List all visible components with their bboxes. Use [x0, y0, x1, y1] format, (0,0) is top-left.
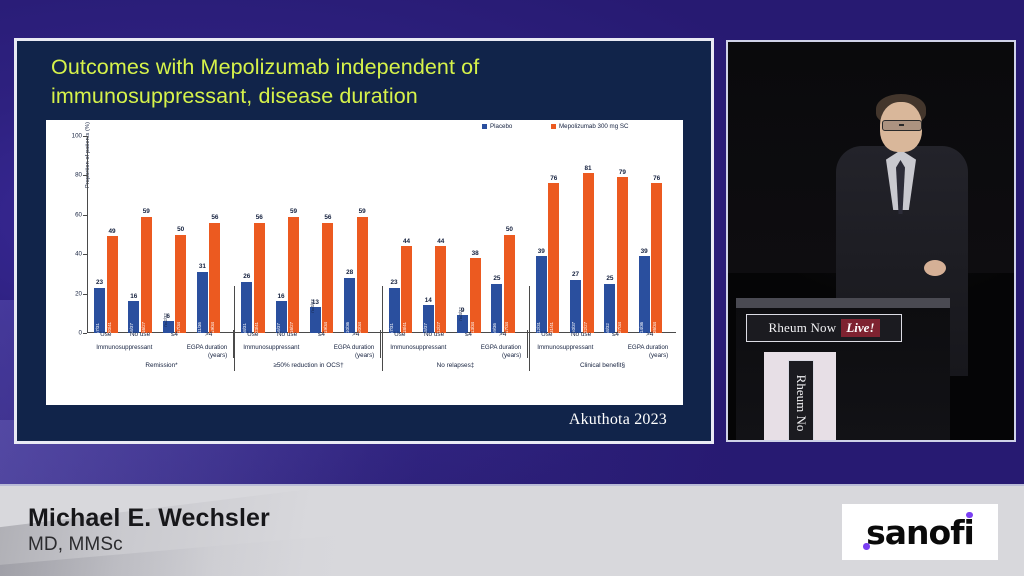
x-label-separator — [527, 330, 528, 358]
y-tick — [83, 175, 87, 176]
x-category-header-line-1: EGPA duration — [453, 344, 522, 352]
presentation-slide[interactable]: Outcomes with Mepolizumab independent of… — [14, 38, 714, 444]
bar-sample-size-label: n=3/32 — [458, 307, 463, 321]
x-tick-label: >4 — [352, 331, 359, 338]
x-tick-label: ≤4 — [171, 331, 178, 338]
x-tick-label: >4 — [646, 331, 653, 338]
x-tick-label: ≤4 — [318, 331, 325, 338]
podium-sign-accent-text: Live! — [841, 319, 879, 337]
bar-fill — [357, 217, 368, 333]
bar-value-label: 16 — [130, 293, 137, 300]
sanofi-logo-text: sanofi — [866, 513, 974, 552]
x-category-header-line-1: EGPA duration — [306, 344, 375, 352]
chart-bar: 56n=19/34 — [209, 223, 220, 333]
chart-bar: 44n=12/27 — [435, 246, 446, 333]
slide-citation: Akuthota 2023 — [569, 411, 667, 429]
bar-value-label: 25 — [493, 275, 500, 282]
bar-value-label: 50 — [177, 226, 184, 233]
bar-fill — [254, 223, 265, 333]
bar-value-label: 76 — [653, 175, 660, 182]
bar-value-label: 79 — [619, 169, 626, 176]
bar-fill — [504, 235, 515, 334]
x-label-separator — [380, 330, 381, 358]
speaker-credentials: MD, MMSc — [28, 534, 123, 556]
bar-value-label: 39 — [538, 248, 545, 255]
chart-bar: 50n=17/34 — [175, 235, 186, 334]
x-category-header-line-2: (years) — [453, 352, 522, 360]
x-tick-label: No use — [130, 331, 150, 338]
x-tick-label: Use — [247, 331, 258, 338]
panel-title: No relapses‡ — [437, 362, 475, 369]
x-tick-label: Use — [394, 331, 405, 338]
chart-bar: 16n=6/37 — [128, 301, 139, 333]
chart-bar: 13n=4/32 — [310, 307, 321, 333]
bar-value-label: 25 — [606, 275, 613, 282]
speaker-name: Michael E. Wechsler — [28, 504, 270, 533]
chart-bar: 59n=16/27 — [288, 217, 299, 333]
x-tick-label: ≤4 — [465, 331, 472, 338]
bar-fill — [288, 217, 299, 333]
chart-bar: 56n=19/34 — [322, 223, 333, 333]
bar-value-label: 56 — [324, 214, 331, 221]
bar-value-label: 28 — [346, 269, 353, 276]
bar-value-label: 16 — [278, 293, 285, 300]
y-tick — [83, 136, 87, 137]
bar-value-label: 23 — [96, 279, 103, 286]
bar-value-label: 31 — [199, 263, 206, 270]
legend-swatch-icon — [482, 124, 487, 129]
y-tick-label: 40 — [75, 251, 82, 258]
y-tick — [83, 333, 87, 334]
panel-title: Clinical benefit§ — [580, 362, 625, 369]
bar-value-label: 59 — [290, 208, 297, 215]
webinar-screen: Outcomes with Mepolizumab independent of… — [0, 0, 1024, 576]
bar-value-label: 76 — [550, 175, 557, 182]
chart-plot-area: Proportion of patients (%) 020406080100 … — [87, 136, 676, 333]
sanofi-logo: sanofi — [842, 504, 998, 560]
x-category-header-line-2: (years) — [306, 352, 375, 360]
x-category-header-duration: EGPA duration(years) — [453, 344, 522, 360]
bar-value-label: 39 — [641, 248, 648, 255]
glasses-icon — [882, 120, 922, 131]
x-axis-labels: UseNo use≤4>4ImmunosuppressantEGPA durat… — [88, 331, 676, 375]
podium-sign-primary-text: Rheum Now — [768, 320, 836, 336]
x-tick-label: No use — [571, 331, 591, 338]
panel-title: Remission* — [145, 362, 177, 369]
bar-value-label: 49 — [108, 228, 115, 235]
bar-value-label: 14 — [425, 297, 432, 304]
x-tick-label: No use — [424, 331, 444, 338]
legend-item: Mepolizumab 300 mg SC — [551, 123, 628, 130]
legend-swatch-icon — [551, 124, 556, 129]
chart-bar: 44n=18/41 — [401, 246, 412, 333]
x-category-header-line-2: (years) — [159, 352, 228, 360]
sanofi-wordmark: sanofi — [866, 513, 974, 552]
y-tick-label: 100 — [72, 133, 82, 140]
x-category-header: Immunosuppressant — [384, 344, 453, 352]
legend-item: Placebo — [482, 123, 512, 130]
y-tick-label: 0 — [79, 330, 82, 337]
chart-bar: 49n=20/41 — [107, 236, 118, 333]
x-tick-label: >4 — [205, 331, 212, 338]
x-tick-label: No use — [277, 331, 297, 338]
bar-value-label: 59 — [359, 208, 366, 215]
chart-bar: 76n=26/34 — [651, 183, 662, 333]
chart-bar: 27n=10/37 — [570, 280, 581, 333]
y-tick-label: 80 — [75, 172, 82, 179]
podium-sign: Rheum Now Live! — [746, 314, 902, 342]
chart-bar: 14n=5/37 — [423, 305, 434, 333]
chart-bar: 23n=7/31 — [389, 288, 400, 333]
x-category-header: Immunosuppressant — [90, 344, 159, 352]
chart-container: PlaceboMepolizumab 300 mg SC Proportion … — [46, 120, 683, 405]
chart-bar: 81n=22/27 — [583, 173, 594, 333]
chart-bar: 76n=31/41 — [548, 183, 559, 333]
x-category-header-line-1: EGPA duration — [159, 344, 228, 352]
bar-value-label: 38 — [472, 250, 479, 257]
chart-bar: 39n=14/36 — [639, 256, 650, 333]
bar-fill — [141, 217, 152, 333]
chart-bar: 28n=10/36 — [344, 278, 355, 333]
chart-bar: 56n=23/41 — [254, 223, 265, 333]
slide-title-line-2: immunosuppressant, disease duration — [51, 82, 691, 111]
slide-title: Outcomes with Mepolizumab independent of… — [51, 53, 691, 111]
x-tick-label: Use — [541, 331, 552, 338]
slide-title-line-1: Outcomes with Mepolizumab independent of — [51, 53, 691, 82]
chart-bar: 26n=8/31 — [241, 282, 252, 333]
bar-fill — [322, 223, 333, 333]
y-tick — [83, 294, 87, 295]
vertical-banner-text: Rheum No — [793, 375, 809, 432]
panel-title: ≥50% reduction in OCS† — [273, 362, 343, 369]
chart-bar: 50n=17/34 — [504, 235, 515, 334]
chart-legend: PlaceboMepolizumab 300 mg SC — [46, 123, 683, 137]
x-category-header-line-1: EGPA duration — [600, 344, 669, 352]
bar-fill — [435, 246, 446, 333]
x-category-header-duration: EGPA duration(years) — [306, 344, 375, 360]
x-category-header: Immunosuppressant — [237, 344, 306, 352]
speaker-video-panel[interactable]: Rheum Now Live! Rheum No — [726, 40, 1016, 442]
podium-top-edge — [736, 298, 950, 308]
bar-value-label: 81 — [585, 165, 592, 172]
chart-bar: 23n=7/31 — [94, 288, 105, 333]
bar-fill — [175, 235, 186, 334]
bar-fill — [209, 223, 220, 333]
bar-value-label: 56 — [256, 214, 263, 221]
bar-value-label: 50 — [506, 226, 513, 233]
chart-bar: 59n=16/27 — [141, 217, 152, 333]
x-category-header-duration: EGPA duration(years) — [600, 344, 669, 360]
x-category-header-line-2: (years) — [600, 352, 669, 360]
bar-value-label: 26 — [243, 273, 250, 280]
x-category-header: Immunosuppressant — [531, 344, 600, 352]
bar-fill — [401, 246, 412, 333]
bar-fill — [651, 183, 662, 333]
bar-value-label: 27 — [572, 271, 579, 278]
chart-bar: 31n=11/36 — [197, 272, 208, 333]
x-tick-label: Use — [100, 331, 111, 338]
chart-bar: 16n=6/37 — [276, 301, 287, 333]
chart-bar: 25n=8/32 — [604, 284, 615, 333]
bar-fill — [107, 236, 118, 333]
x-label-separator — [233, 330, 234, 358]
bar-fill — [548, 183, 559, 333]
bar-value-label: 44 — [403, 238, 410, 245]
x-category-header-duration: EGPA duration(years) — [159, 344, 228, 360]
vertical-banner: Rheum No — [788, 360, 814, 442]
chart-bar: 25n=9/36 — [491, 284, 502, 333]
bar-sample-size-label: n=4/32 — [310, 300, 315, 314]
y-tick — [83, 215, 87, 216]
y-tick — [83, 254, 87, 255]
legend-label: Mepolizumab 300 mg SC — [559, 123, 628, 130]
legend-label: Placebo — [490, 123, 512, 130]
bar-sample-size-label: n=2/32 — [163, 313, 168, 327]
bar-value-label: 59 — [143, 208, 150, 215]
sanofi-dot-right-icon — [966, 512, 973, 519]
bar-value-label: 23 — [390, 279, 397, 286]
speaker-hand — [924, 260, 946, 276]
chart-bar: 59n=20/34 — [357, 217, 368, 333]
chart-bar: 39n=12/31 — [536, 256, 547, 333]
x-tick-label: >4 — [499, 331, 506, 338]
chart-bar: 79n=27/34 — [617, 177, 628, 333]
bar-value-label: 56 — [211, 214, 218, 221]
y-tick-label: 60 — [75, 211, 82, 218]
bar-fill — [617, 177, 628, 333]
chart-bar: 38n=13/34 — [470, 258, 481, 333]
sanofi-dot-left-icon — [863, 543, 870, 550]
x-tick-label: ≤4 — [612, 331, 619, 338]
bar-value-label: 44 — [437, 238, 444, 245]
y-tick-label: 20 — [75, 290, 82, 297]
bar-fill — [583, 173, 594, 333]
